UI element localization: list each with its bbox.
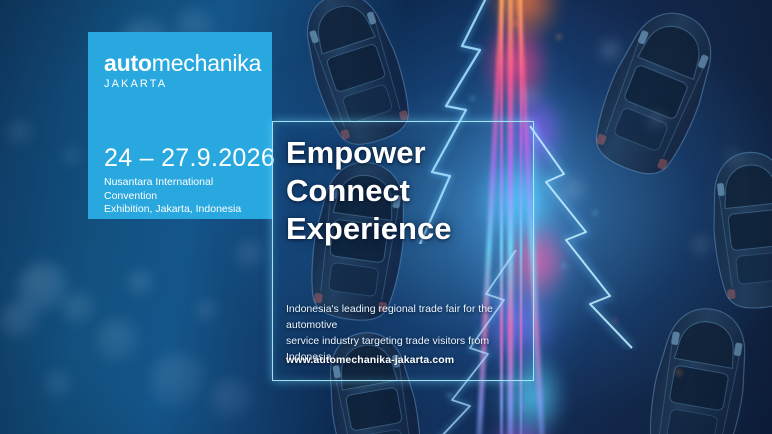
headline-line-1: Empower <box>286 134 451 172</box>
logo-bold-text: auto <box>104 50 152 76</box>
logo-city-label: JAKARTA <box>104 78 256 90</box>
headline: Empower Connect Experience <box>286 134 451 248</box>
headline-line-3: Experience <box>286 210 451 248</box>
website-link[interactable]: www.automechanika-jakarta.com <box>286 354 454 366</box>
event-venue: Nusantara International Convention Exhib… <box>104 176 264 217</box>
event-date: 24 – 27.9.2026 <box>104 144 275 173</box>
venue-line-1: Nusantara International Convention <box>104 176 264 203</box>
automechanika-jakarta-banner: automechanika JAKARTA 24 – 27.9.2026 Nus… <box>0 0 772 434</box>
headline-line-2: Connect <box>286 172 451 210</box>
brand-panel: automechanika JAKARTA 24 – 27.9.2026 Nus… <box>88 32 272 219</box>
logo-regular-text: mechanika <box>152 50 261 76</box>
automechanika-logo: automechanika <box>104 50 256 76</box>
tagline-line-1: Indonesia's leading regional trade fair … <box>286 301 524 333</box>
venue-line-2: Exhibition, Jakarta, Indonesia <box>104 203 264 217</box>
